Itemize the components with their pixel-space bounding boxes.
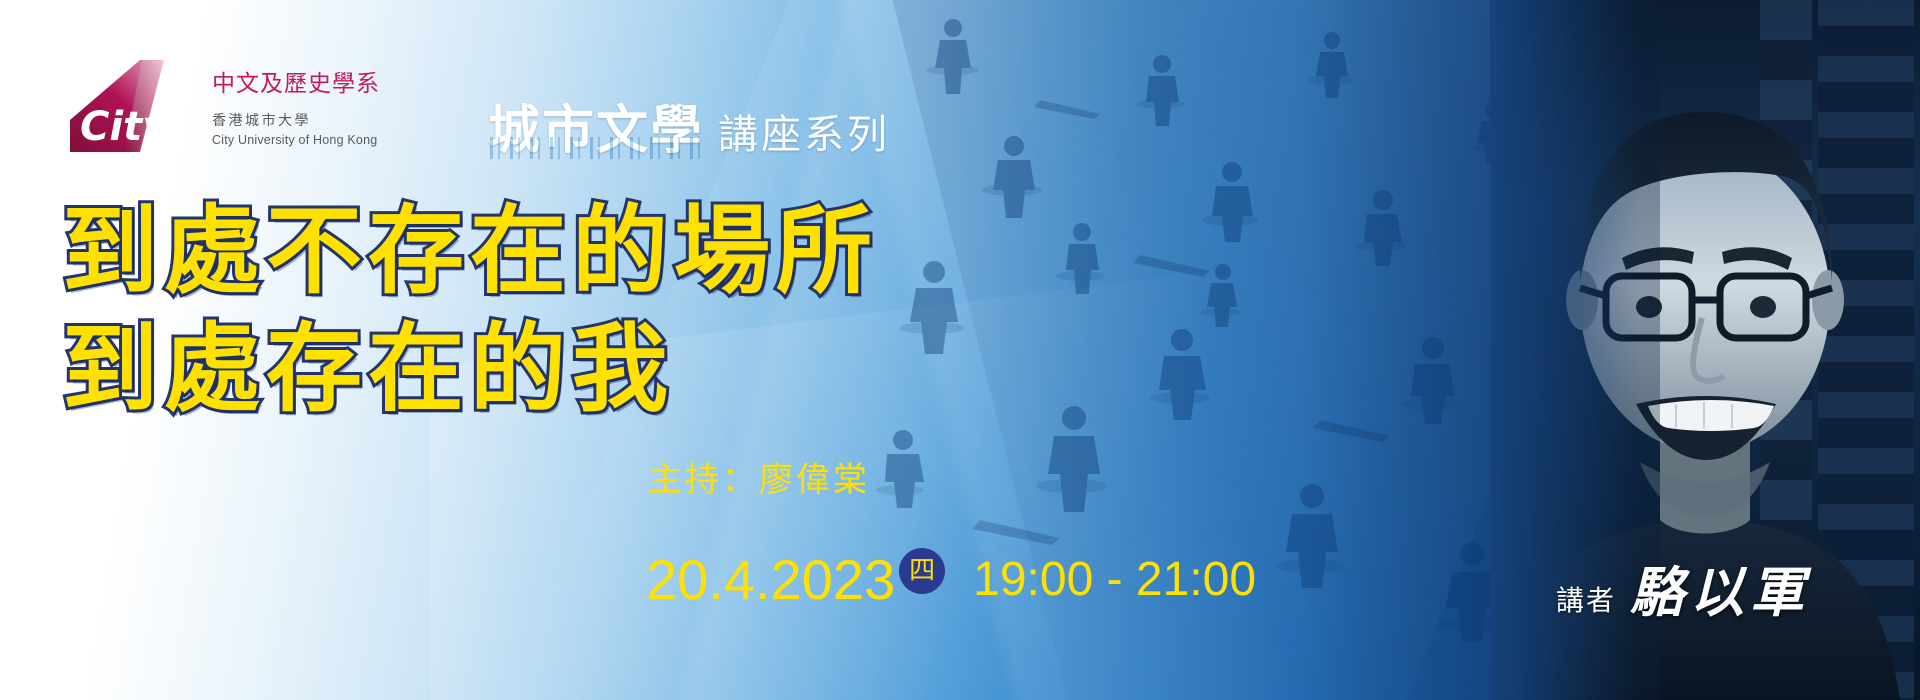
host-line: 主持：廖偉棠 — [648, 452, 870, 501]
series-title-sub: 講座系列 — [718, 102, 890, 160]
series-title-main: 城市文學 — [488, 105, 704, 157]
department-name-cn: 中文及歷史學系 — [212, 72, 380, 97]
cityu-logo-text: 中文及歷史學系 香港城市大學 City University of Hong K… — [212, 58, 380, 147]
svg-text:CityU: CityU — [80, 104, 198, 150]
university-name-cn: 香港城市大學 — [212, 110, 380, 130]
speaker-label: 講者 — [1556, 579, 1616, 619]
headline: 到處不存在的場所 到處存在的我 — [62, 192, 878, 428]
headline-line-1: 到處不存在的場所 — [62, 192, 878, 310]
speaker-credit: 講者 駱以軍 — [1556, 548, 1810, 627]
event-datetime: 20.4.2023 四 19:00 - 21:00 — [646, 552, 1256, 608]
headline-line-2: 到處存在的我 — [62, 310, 878, 428]
event-weekday-badge: 四 — [899, 548, 945, 594]
cityu-logo-icon: CityU — [68, 58, 198, 154]
cityu-logo-block: CityU 中文及歷史學系 香港城市大學 City University of … — [68, 58, 380, 154]
event-time: 19:00 - 21:00 — [973, 556, 1256, 604]
speaker-name: 駱以軍 — [1630, 548, 1810, 627]
event-date: 20.4.2023 — [646, 552, 895, 608]
university-name-en: City University of Hong Kong — [212, 133, 380, 147]
series-title: 城市文學 講座系列 — [488, 102, 890, 160]
lecture-series-banner: CityU 中文及歷史學系 香港城市大學 City University of … — [0, 0, 1920, 700]
